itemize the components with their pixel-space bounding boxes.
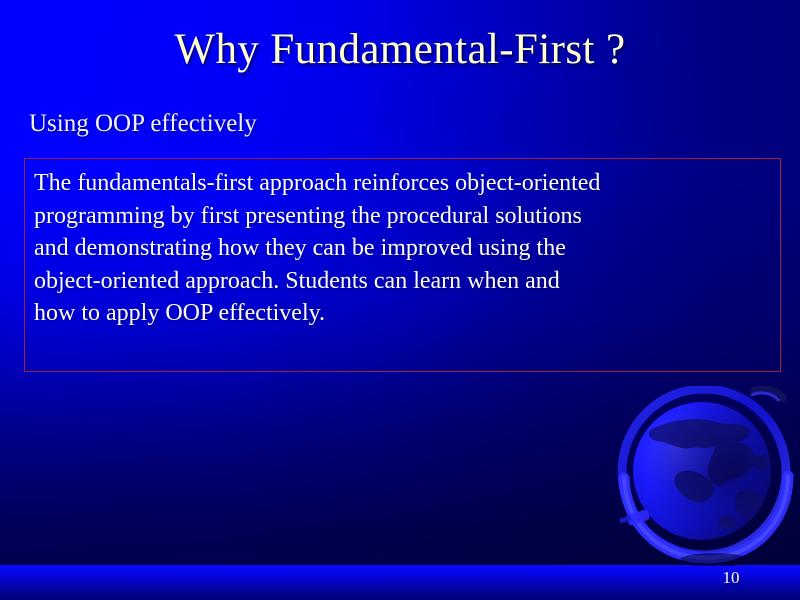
- body-text-line: programming by first presenting the proc…: [34, 200, 776, 233]
- presentation-slide: Why Fundamental-First ? Using OOP effect…: [0, 0, 800, 600]
- globe-icon: [614, 386, 800, 566]
- body-text-box: The fundamentals-first approach reinforc…: [24, 158, 781, 372]
- page-number: 10: [716, 568, 746, 588]
- slide-title: Why Fundamental-First ?: [0, 24, 800, 76]
- body-text-line: and demonstrating how they can be improv…: [34, 232, 776, 265]
- body-text-content: The fundamentals-first approach reinforc…: [34, 167, 776, 330]
- slide-subtitle: Using OOP effectively: [29, 108, 257, 140]
- body-text-line: object-oriented approach. Students can l…: [34, 265, 776, 298]
- body-text-line: how to apply OOP effectively.: [34, 297, 776, 330]
- body-text-line: The fundamentals-first approach reinforc…: [34, 167, 776, 200]
- slide-bottom-band: [0, 565, 800, 600]
